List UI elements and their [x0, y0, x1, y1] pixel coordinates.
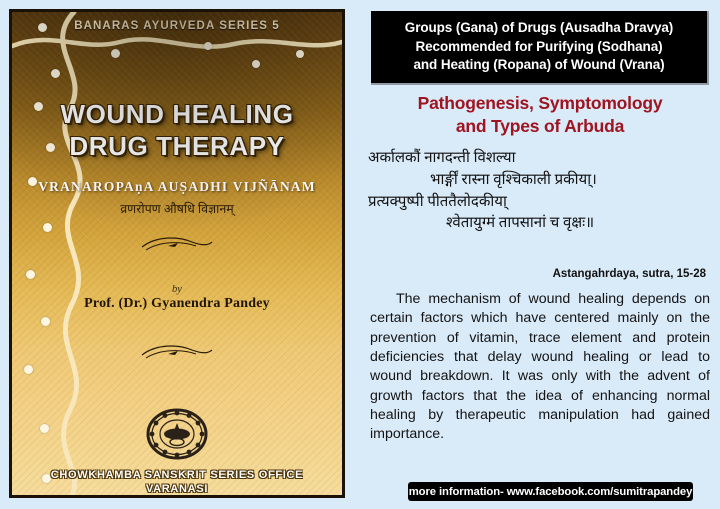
cover-dot — [43, 223, 52, 232]
slide-image: BANARAS AYURVEDA SERIES 5 WOUND HEALING … — [0, 0, 720, 509]
cover-dot — [252, 60, 260, 68]
book-title-line1: WOUND HEALING — [12, 99, 342, 130]
verse-line-2: भार्ङ्गीं रास्ना वृश्चिकाली प्रकीया्। — [368, 170, 712, 192]
slide-header-line-2: Recommended for Purifying (Sodhana) — [415, 38, 662, 57]
verse-line-4: श्वेतायुग्मं तापसानां च वृक्षः॥ — [368, 213, 712, 235]
book-cover: BANARAS AYURVEDA SERIES 5 WOUND HEALING … — [9, 9, 345, 498]
cover-dot — [296, 50, 304, 58]
cover-dot — [26, 270, 35, 279]
book-publisher-city: VARANASI — [12, 483, 342, 495]
slide-header-box: Groups (Gana) of Drugs (Ausadha Dravya) … — [371, 11, 709, 85]
verse-line-1: अर्कालकौं नागदन्ती विशल्या — [368, 148, 712, 170]
verse-line-3: प्रत्यक्पुष्पी पीततैलोदकीया् — [368, 192, 712, 214]
cover-dot — [51, 69, 60, 78]
publisher-logo-icon — [12, 408, 342, 465]
slide-body-paragraph: The mechanism of wound healing depends o… — [370, 290, 710, 445]
slide-title-line-2: and Types of Arbuda — [366, 115, 714, 138]
book-by-label: by — [12, 284, 342, 295]
book-publisher: CHOWKHAMBA SANSKRIT SERIES OFFICE — [12, 469, 342, 481]
book-subtitle-romanized: VRANAROPAṇA AUṢADHI VIJÑĀNAM — [12, 179, 342, 195]
book-author: Prof. (Dr.) Gyanendra Pandey — [12, 296, 342, 312]
book-title-line2: DRUG THERAPY — [12, 131, 342, 162]
cover-dot — [41, 317, 50, 326]
ornament-flourish-icon — [12, 342, 342, 367]
footer-info-text: more information- www.facebook.com/sumit… — [409, 486, 693, 498]
cover-dot — [111, 49, 120, 58]
slide-title: Pathogenesis, Symptomology and Types of … — [366, 92, 714, 138]
verse-citation: Astangahrdaya, sutra, 15-28 — [360, 268, 706, 280]
slide-title-line-1: Pathogenesis, Symptomology — [366, 92, 714, 115]
book-cover-artwork: BANARAS AYURVEDA SERIES 5 WOUND HEALING … — [12, 12, 342, 495]
slide-panel: Groups (Gana) of Drugs (Ausadha Dravya) … — [360, 0, 720, 509]
book-series-label: BANARAS AYURVEDA SERIES 5 — [12, 20, 342, 32]
slide-header-line-1: Groups (Gana) of Drugs (Ausadha Dravya) — [405, 19, 673, 38]
ornament-flourish-icon — [12, 234, 342, 259]
cover-dot — [204, 42, 212, 50]
sanskrit-verse: अर्कालकौं नागदन्ती विशल्या भार्ङ्गीं रास… — [368, 148, 712, 235]
footer-info-bar: more information- www.facebook.com/sumit… — [408, 482, 693, 501]
slide-header-line-3: and Heating (Ropana) of Wound (Vrana) — [413, 56, 664, 75]
book-subtitle-devanagari: व्रणरोपण औषधि विज्ञानम् — [12, 200, 342, 217]
